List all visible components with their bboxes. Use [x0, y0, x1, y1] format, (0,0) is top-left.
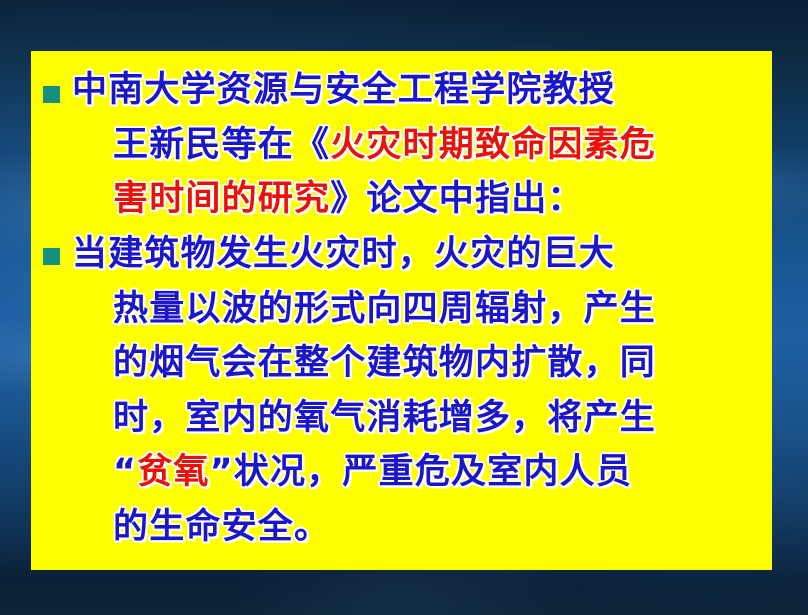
- content-panel: 中南大学资源与安全工程学院教授 王新民等在《火灾时期致命因素危 害时间的研究》论…: [31, 51, 772, 570]
- text-line: 害时间的研究》论文中指出：: [72, 172, 766, 227]
- text-line: 中南大学资源与安全工程学院教授: [72, 63, 766, 118]
- presentation-slide: 中南大学资源与安全工程学院教授 王新民等在《火灾时期致命因素危 害时间的研究》论…: [0, 0, 808, 615]
- text-segment-highlight: 贫氧: [137, 452, 209, 492]
- text-segment: 当建筑物发生火灾时，火灾的巨大: [72, 234, 615, 274]
- text-line: 热量以波的形式向四周辐射，产生: [72, 282, 766, 337]
- square-bullet-icon: [43, 248, 60, 265]
- text-segment: 时，室内的氧气消耗增多，将产生: [113, 398, 656, 438]
- text-segment: 热量以波的形式向四周辐射，产生: [113, 289, 656, 329]
- text-segment: “: [113, 452, 137, 492]
- text-segment: ”状况，严重危及室内人员: [210, 452, 632, 492]
- text-line: 当建筑物发生火灾时，火灾的巨大: [72, 227, 766, 282]
- text-segment: 王新民等在《: [113, 125, 330, 165]
- bullet-2-text: 当建筑物发生火灾时，火灾的巨大 热量以波的形式向四周辐射，产生 的烟气会在整个建…: [31, 227, 772, 554]
- text-line: 的烟气会在整个建筑物内扩散，同: [72, 336, 766, 391]
- square-bullet-icon: [43, 86, 60, 103]
- bullet-item-2: 当建筑物发生火灾时，火灾的巨大 热量以波的形式向四周辐射，产生 的烟气会在整个建…: [31, 227, 772, 554]
- bullet-item-1: 中南大学资源与安全工程学院教授 王新民等在《火灾时期致命因素危 害时间的研究》论…: [31, 63, 772, 227]
- text-segment: 中南大学资源与安全工程学院教授: [72, 70, 615, 110]
- text-segment-highlight: 害时间的研究: [113, 179, 330, 219]
- text-line: “贫氧”状况，严重危及室内人员: [72, 445, 766, 500]
- text-segment: 的生命安全。: [113, 507, 330, 547]
- text-segment-highlight: 火灾时期致命因素危: [330, 125, 656, 165]
- text-segment: 的烟气会在整个建筑物内扩散，同: [113, 343, 656, 383]
- text-line: 王新民等在《火灾时期致命因素危: [72, 118, 766, 173]
- text-line: 的生命安全。: [72, 500, 766, 555]
- bullet-1-text: 中南大学资源与安全工程学院教授 王新民等在《火灾时期致命因素危 害时间的研究》论…: [31, 63, 772, 227]
- text-line: 时，室内的氧气消耗增多，将产生: [72, 391, 766, 446]
- text-segment: 》论文中指出：: [330, 179, 583, 219]
